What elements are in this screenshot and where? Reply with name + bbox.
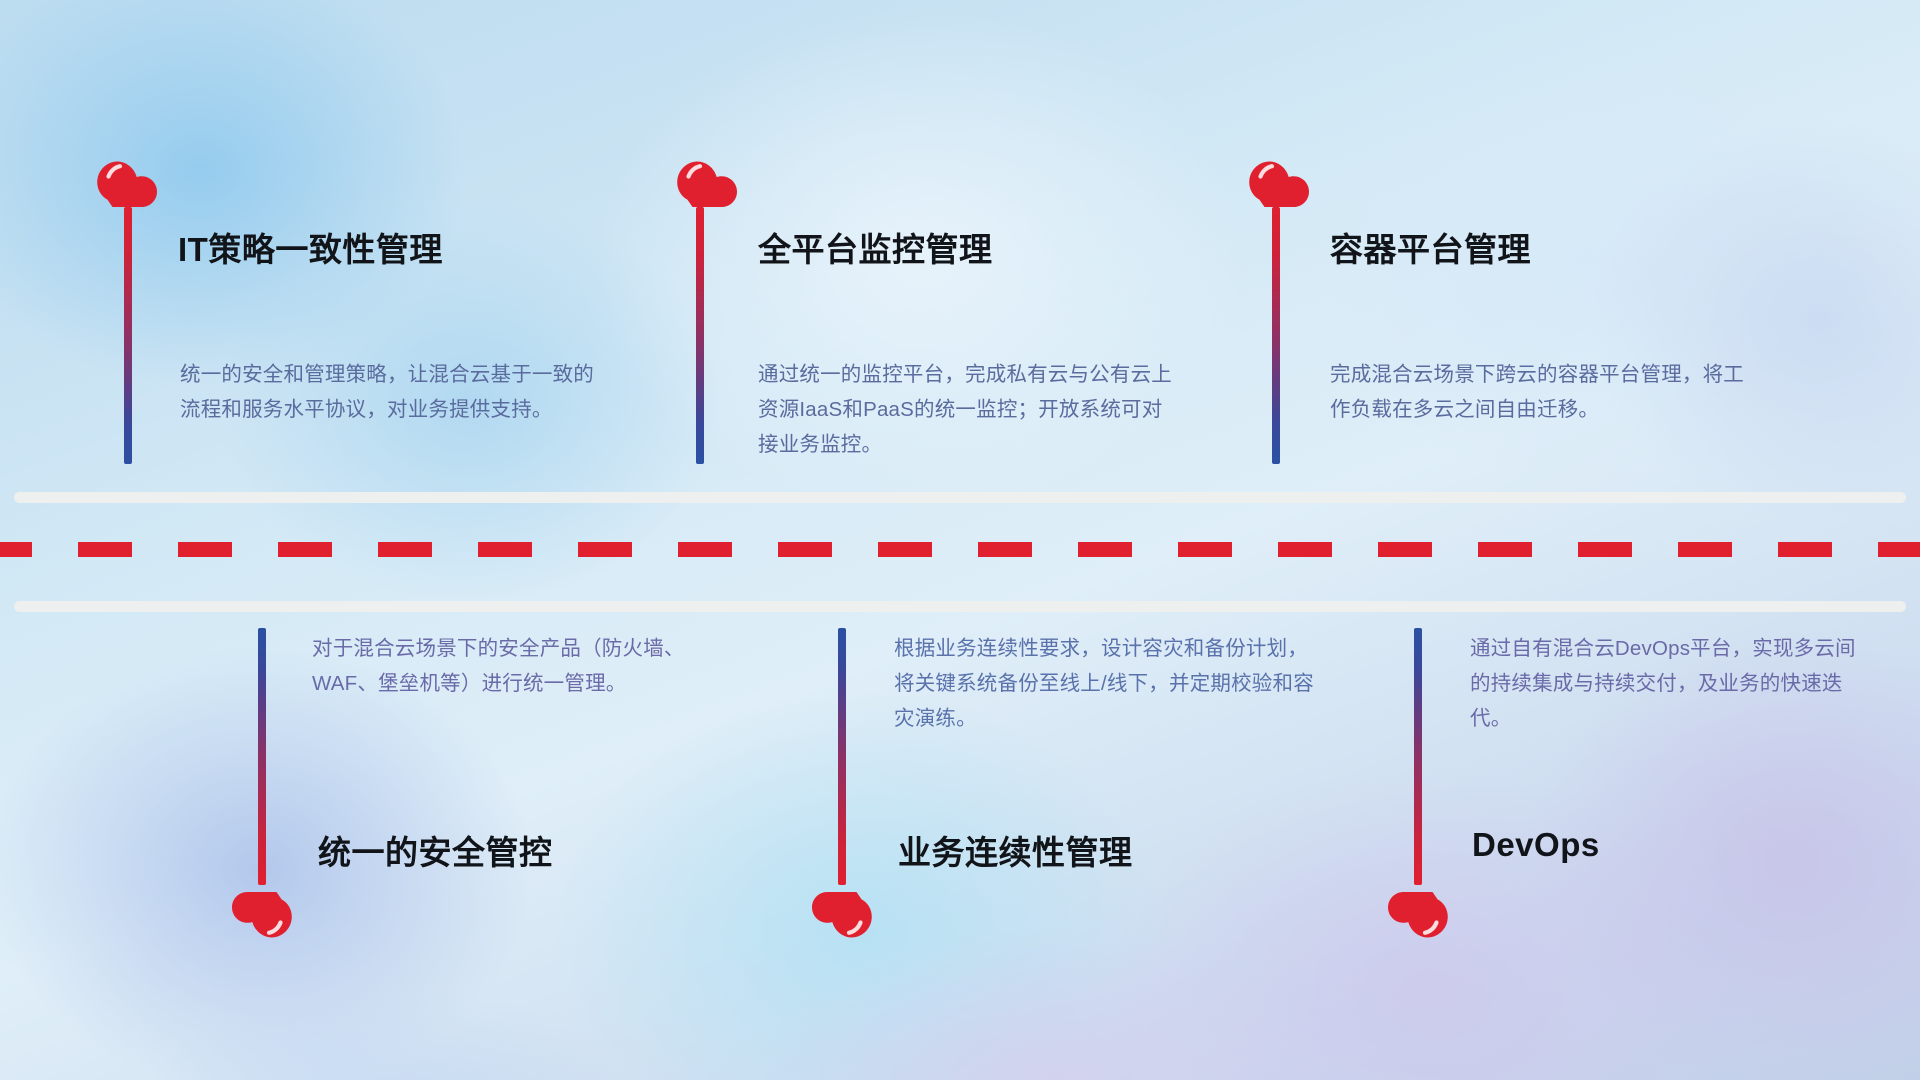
top-card-description: 通过统一的监控平台，完成私有云与公有云上资源IaaS和PaaS的统一监控；开放系… — [758, 357, 1178, 462]
road-divider — [0, 492, 1920, 612]
cloud-icon — [1248, 160, 1310, 208]
cloud-icon — [811, 891, 873, 939]
connector-line — [258, 628, 266, 885]
road-edge-top — [14, 492, 1906, 503]
background-glow — [1420, 540, 1920, 1080]
top-card-description: 完成混合云场景下跨云的容器平台管理，将工作负载在多云之间自由迁移。 — [1330, 357, 1760, 427]
cloud-icon — [1387, 891, 1449, 939]
connector-line — [124, 207, 132, 464]
bottom-card-description: 对于混合云场景下的安全产品（防火墙、WAF、堡垒机等）进行统一管理。 — [312, 631, 732, 701]
bottom-card-description: 根据业务连续性要求，设计容灾和备份计划，将关键系统备份至线上/线下，并定期校验和… — [894, 631, 1314, 736]
connector-line — [838, 628, 846, 885]
top-card-title: 容器平台管理 — [1330, 223, 1531, 271]
bottom-card-description: 通过自有混合云DevOps平台，实现多云间的持续集成与持续交付，及业务的快速迭代… — [1470, 631, 1870, 736]
bottom-card-title: 业务连续性管理 — [898, 826, 1133, 874]
connector-line — [696, 207, 704, 464]
road-edge-bottom — [14, 601, 1906, 612]
cloud-icon — [231, 891, 293, 939]
background-glow — [980, 680, 1880, 1080]
road-dash-pattern — [0, 542, 1920, 557]
background-glow — [40, 940, 740, 1080]
top-card-title: 全平台监控管理 — [758, 223, 993, 271]
road-center-dashes — [0, 542, 1920, 557]
cloud-icon — [96, 160, 158, 208]
bottom-card-title: 统一的安全管控 — [318, 826, 553, 874]
connector-line — [1272, 207, 1280, 464]
bottom-card-title: DevOps — [1472, 826, 1600, 864]
connector-line — [1414, 628, 1422, 885]
background-glow — [640, 870, 1460, 1080]
cloud-icon — [676, 160, 738, 208]
top-card-title: IT策略一致性管理 — [178, 223, 443, 271]
infographic-canvas: IT策略一致性管理 统一的安全和管理策略，让混合云基于一致的流程和服务水平协议，… — [0, 0, 1920, 1080]
top-card-description: 统一的安全和管理策略，让混合云基于一致的流程和服务水平协议，对业务提供支持。 — [180, 357, 600, 427]
